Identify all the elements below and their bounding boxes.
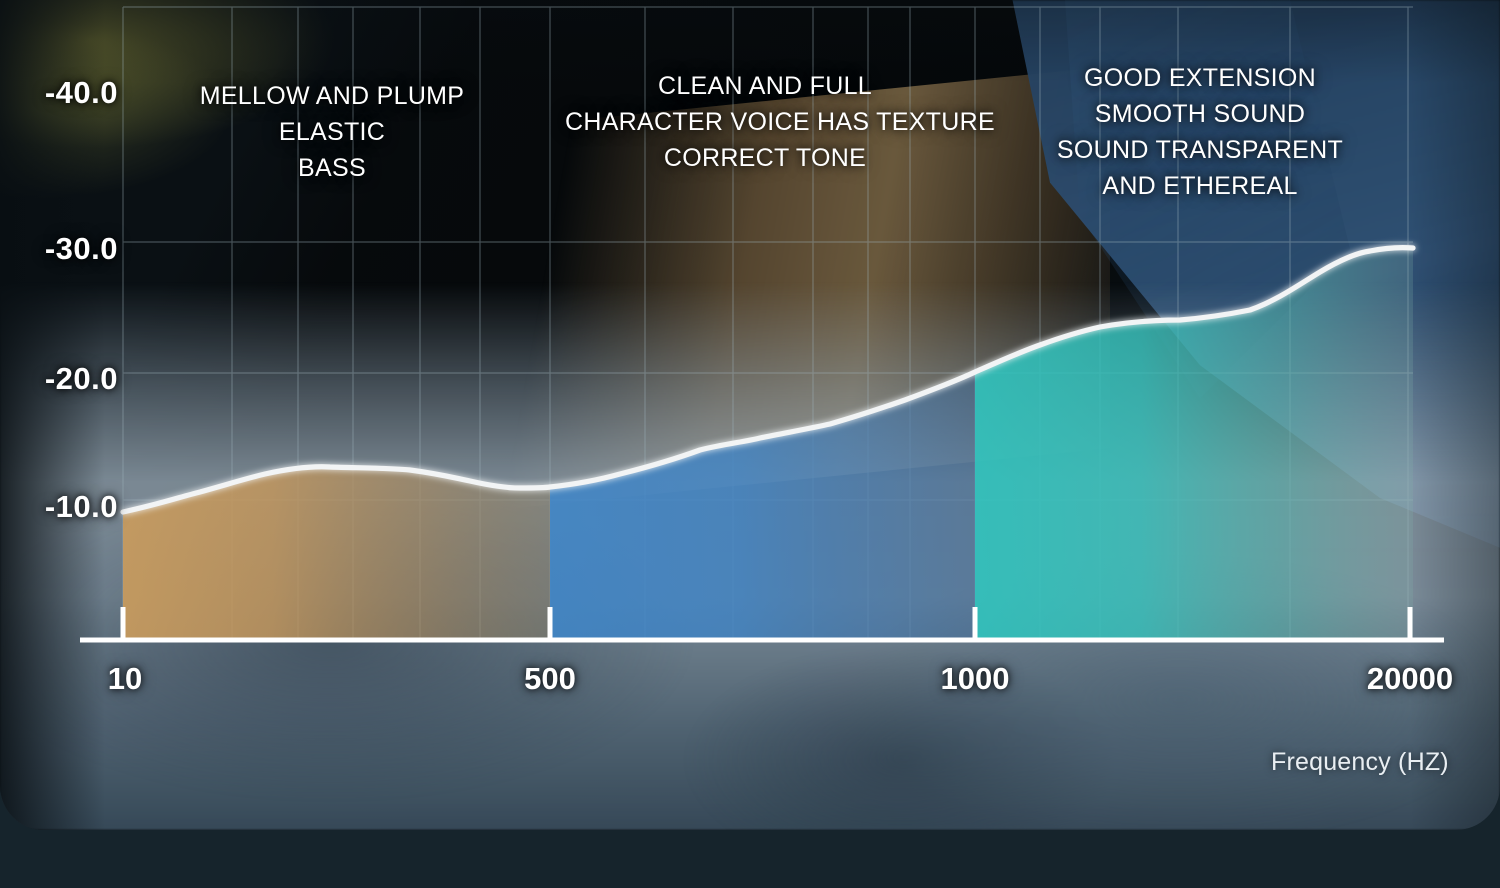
annotation-treble-line-3: SOUND TRANSPARENT: [1000, 132, 1400, 168]
y-axis-label-3: -10.0: [0, 489, 118, 525]
annotation-bass-line-2: ELASTIC: [132, 114, 532, 150]
y-axis-label-1: -30.0: [0, 231, 118, 267]
y-axis-label-0: -40.0: [0, 75, 118, 111]
annotation-treble-line-1: GOOD EXTENSION: [1000, 60, 1400, 96]
x-axis-label-1000: 1000: [895, 661, 1055, 697]
x-axis-label-500: 500: [470, 661, 630, 697]
x-axis-label-20000: 20000: [1330, 661, 1490, 697]
annotation-mids-line-1: CLEAN AND FULL: [565, 68, 965, 104]
y-axis-label-2: -20.0: [0, 361, 118, 397]
x-axis-label-10: 10: [45, 661, 205, 697]
annotation-mids-line-3: CORRECT TONE: [565, 140, 965, 176]
annotation-mids: CLEAN AND FULL CHARACTER VOICE HAS TEXTU…: [565, 68, 965, 176]
annotation-bass: MELLOW AND PLUMP ELASTIC BASS: [132, 78, 532, 186]
annotation-treble-line-2: SMOOTH SOUND: [1000, 96, 1400, 132]
annotation-treble: GOOD EXTENSION SMOOTH SOUND SOUND TRANSP…: [1000, 60, 1400, 204]
annotation-mids-line-2: CHARACTER VOICE HAS TEXTURE: [565, 104, 965, 140]
annotation-treble-line-4: AND ETHEREAL: [1000, 168, 1400, 204]
annotation-bass-line-1: MELLOW AND PLUMP: [132, 78, 532, 114]
x-axis-title: Frequency (HZ): [1271, 748, 1449, 777]
frequency-response-graphic: -40.0 -30.0 -20.0 -10.0 10 500 1000 2000…: [0, 0, 1500, 888]
annotation-bass-line-3: BASS: [132, 150, 532, 186]
